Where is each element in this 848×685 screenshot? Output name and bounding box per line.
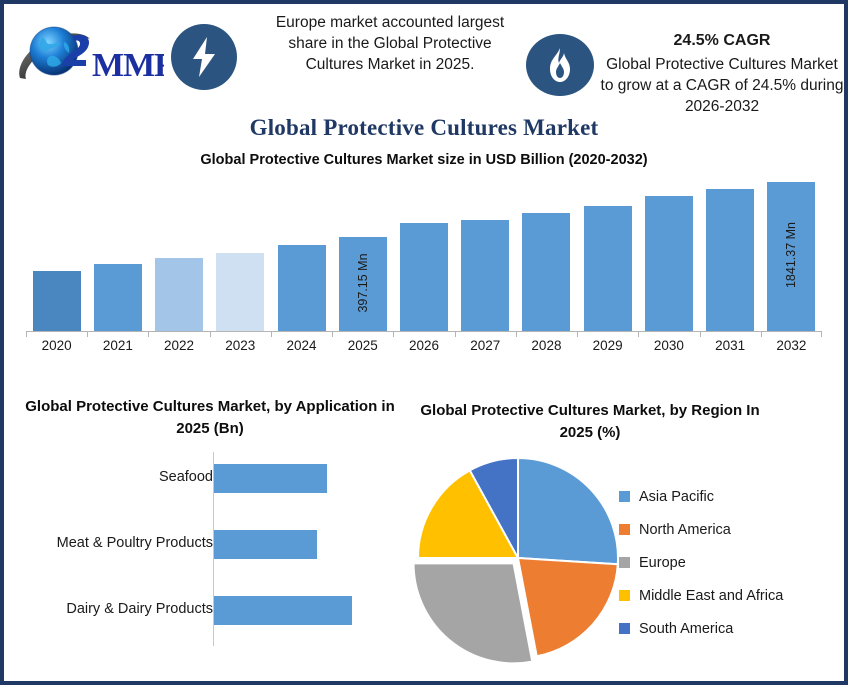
europe-share-note: Europe market accounted largest share in… [266,12,514,75]
pie-slice-asia-pacific [518,458,618,564]
legend-item: Asia Pacific [619,480,844,513]
legend-label: Middle East and Africa [639,588,783,604]
axis-tick [638,332,639,337]
application-bar-chart: Global Protective Cultures Market, by Ap… [4,396,416,681]
legend-label: Europe [639,555,686,571]
bar-data-label: 397.15 Mn [356,253,370,312]
axis-tick [148,332,149,337]
column-bar-2020 [26,176,87,331]
application-label: Meat & Poultry Products [57,535,213,551]
bar-rect [400,223,448,331]
bar-rect [584,206,632,331]
bar-data-label: 1841.37 Mn [784,222,798,288]
column-bar-2021 [87,176,148,331]
bar-rect [155,258,203,331]
application-bar [214,464,327,493]
mmr-logo: MMR [14,20,164,92]
x-axis-label-2032: 2032 [761,338,822,353]
legend-swatch-icon [619,590,630,601]
application-row: Seafood [4,460,416,496]
application-bar [214,596,352,625]
legend-swatch-icon [619,623,630,634]
cagr-note: 24.5% CAGR Global Protective Cultures Ma… [600,30,844,117]
application-label: Seafood [159,469,213,485]
cagr-description: Global Protective Cultures Market to gro… [601,56,844,115]
page-title: Global Protective Cultures Market [4,115,844,141]
legend-label: North America [639,522,731,538]
column-bar-2026 [393,176,454,331]
axis-tick [271,332,272,337]
column-chart-plot: 397.15 Mn1841.37 Mn [26,176,822,331]
x-axis-label-2021: 2021 [87,338,148,353]
axis-tick [761,332,762,337]
axis-tick [516,332,517,337]
bar-rect [706,189,754,331]
bar-rect: 397.15 Mn [339,237,387,331]
x-axis-label-2020: 2020 [26,338,87,353]
header: MMR Europe market accounted largest shar… [4,4,844,114]
svg-text:MMR: MMR [92,47,164,84]
column-bar-2027 [455,176,516,331]
bar-rect [33,271,81,331]
pie-chart-title: Global Protective Cultures Market, by Re… [420,400,760,444]
market-size-column-chart: Global Protective Cultures Market size i… [4,152,844,380]
x-axis-label-2027: 2027 [455,338,516,353]
legend-swatch-icon [619,491,630,502]
column-bar-2023 [210,176,271,331]
x-axis-label-2029: 2029 [577,338,638,353]
axis-tick [26,332,27,337]
axis-tick [577,332,578,337]
x-axis-label-2026: 2026 [394,338,455,353]
legend-label: Asia Pacific [639,489,714,505]
column-chart-x-axis [26,331,822,338]
legend-label: South America [639,621,733,637]
column-chart-title: Global Protective Cultures Market size i… [4,152,844,168]
application-bar [214,530,317,559]
pie-slice-europe [414,563,533,663]
application-label: Dairy & Dairy Products [66,601,213,617]
x-axis-label-2023: 2023 [210,338,271,353]
column-bar-2024 [271,176,332,331]
bar-rect [461,220,509,331]
axis-tick [455,332,456,337]
pie-slice-north-america [518,558,618,656]
globe-icon: MMR [14,20,164,92]
column-bar-2029 [577,176,638,331]
bar-rect [278,245,326,331]
application-row: Meat & Poultry Products [4,526,416,562]
pie-graphic [408,448,628,668]
column-bar-2022 [148,176,209,331]
application-row: Dairy & Dairy Products [4,592,416,628]
bar-rect [645,196,693,331]
cagr-value: 24.5% CAGR [600,30,844,51]
application-chart-title: Global Protective Cultures Market, by Ap… [14,396,406,440]
column-bar-2025: 397.15 Mn [332,176,393,331]
legend-swatch-icon [619,524,630,535]
x-axis-label-2025: 2025 [332,338,393,353]
application-chart-plot: SeafoodMeat & Poultry ProductsDairy & Da… [4,452,416,662]
axis-tick [393,332,394,337]
legend-item: Europe [619,546,844,579]
axis-tick [821,332,822,337]
bar-rect: 1841.37 Mn [767,182,815,331]
legend-item: North America [619,513,844,546]
bar-rect [522,213,570,331]
column-bar-2030 [638,176,699,331]
axis-tick [332,332,333,337]
x-axis-label-2024: 2024 [271,338,332,353]
axis-tick [210,332,211,337]
column-bar-2028 [516,176,577,331]
flame-icon [526,34,594,96]
axis-tick [700,332,701,337]
infographic-frame: MMR Europe market accounted largest shar… [0,0,848,685]
column-bar-2031 [700,176,761,331]
x-axis-label-2031: 2031 [700,338,761,353]
legend-item: Middle East and Africa [619,579,844,612]
lightning-bolt-icon [171,24,237,90]
pie-legend: Asia PacificNorth AmericaEuropeMiddle Ea… [619,480,844,645]
legend-item: South America [619,612,844,645]
bar-rect [216,253,264,331]
legend-swatch-icon [619,557,630,568]
bar-rect [94,264,142,331]
x-axis-label-2028: 2028 [516,338,577,353]
axis-tick [87,332,88,337]
region-pie-chart: Global Protective Cultures Market, by Re… [416,400,844,685]
column-bar-2032: 1841.37 Mn [761,176,822,331]
x-axis-label-2022: 2022 [149,338,210,353]
x-axis-label-2030: 2030 [638,338,699,353]
